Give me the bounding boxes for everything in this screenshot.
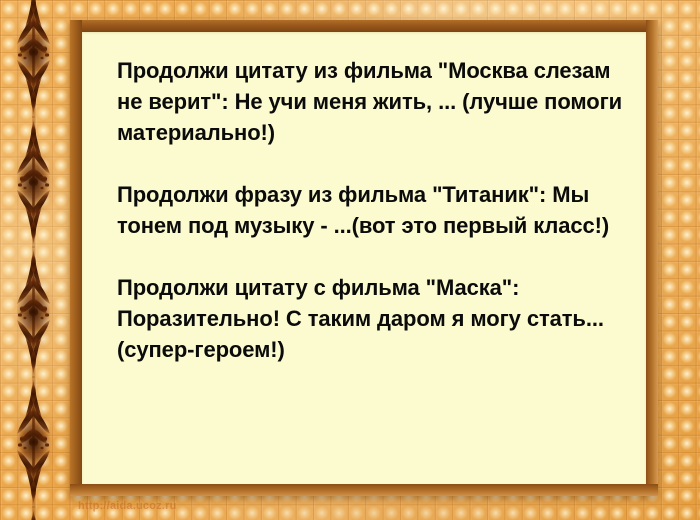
quote-block-maska: Продолжи цитату с фильма "Маска": Порази… [117,272,625,365]
fractal-ornament-unit [0,506,70,520]
quote-list: Продолжи цитату из фильма "Москва слезам… [117,55,625,365]
slide-canvas: Продолжи цитату из фильма "Москва слезам… [0,0,700,520]
frame-edge-left [70,20,82,496]
frame-edge-top [70,20,658,32]
fractal-ornament-unit [0,246,70,378]
frame-edge-bottom [70,484,658,496]
site-watermark: http://aida.ucoz.ru [78,500,177,512]
fractal-ornament-column [0,0,70,520]
fractal-ornament-unit [0,376,70,508]
quote-block-titanic: Продолжи фразу из фильма "Титаник": Мы т… [117,179,625,241]
quote-block-moskva: Продолжи цитату из фильма "Москва слезам… [117,55,625,148]
fractal-ornament-unit [0,116,70,248]
frame-edge-right [646,20,658,496]
content-panel: Продолжи цитату из фильма "Москва слезам… [82,32,646,484]
fractal-ornament-unit [0,0,70,118]
